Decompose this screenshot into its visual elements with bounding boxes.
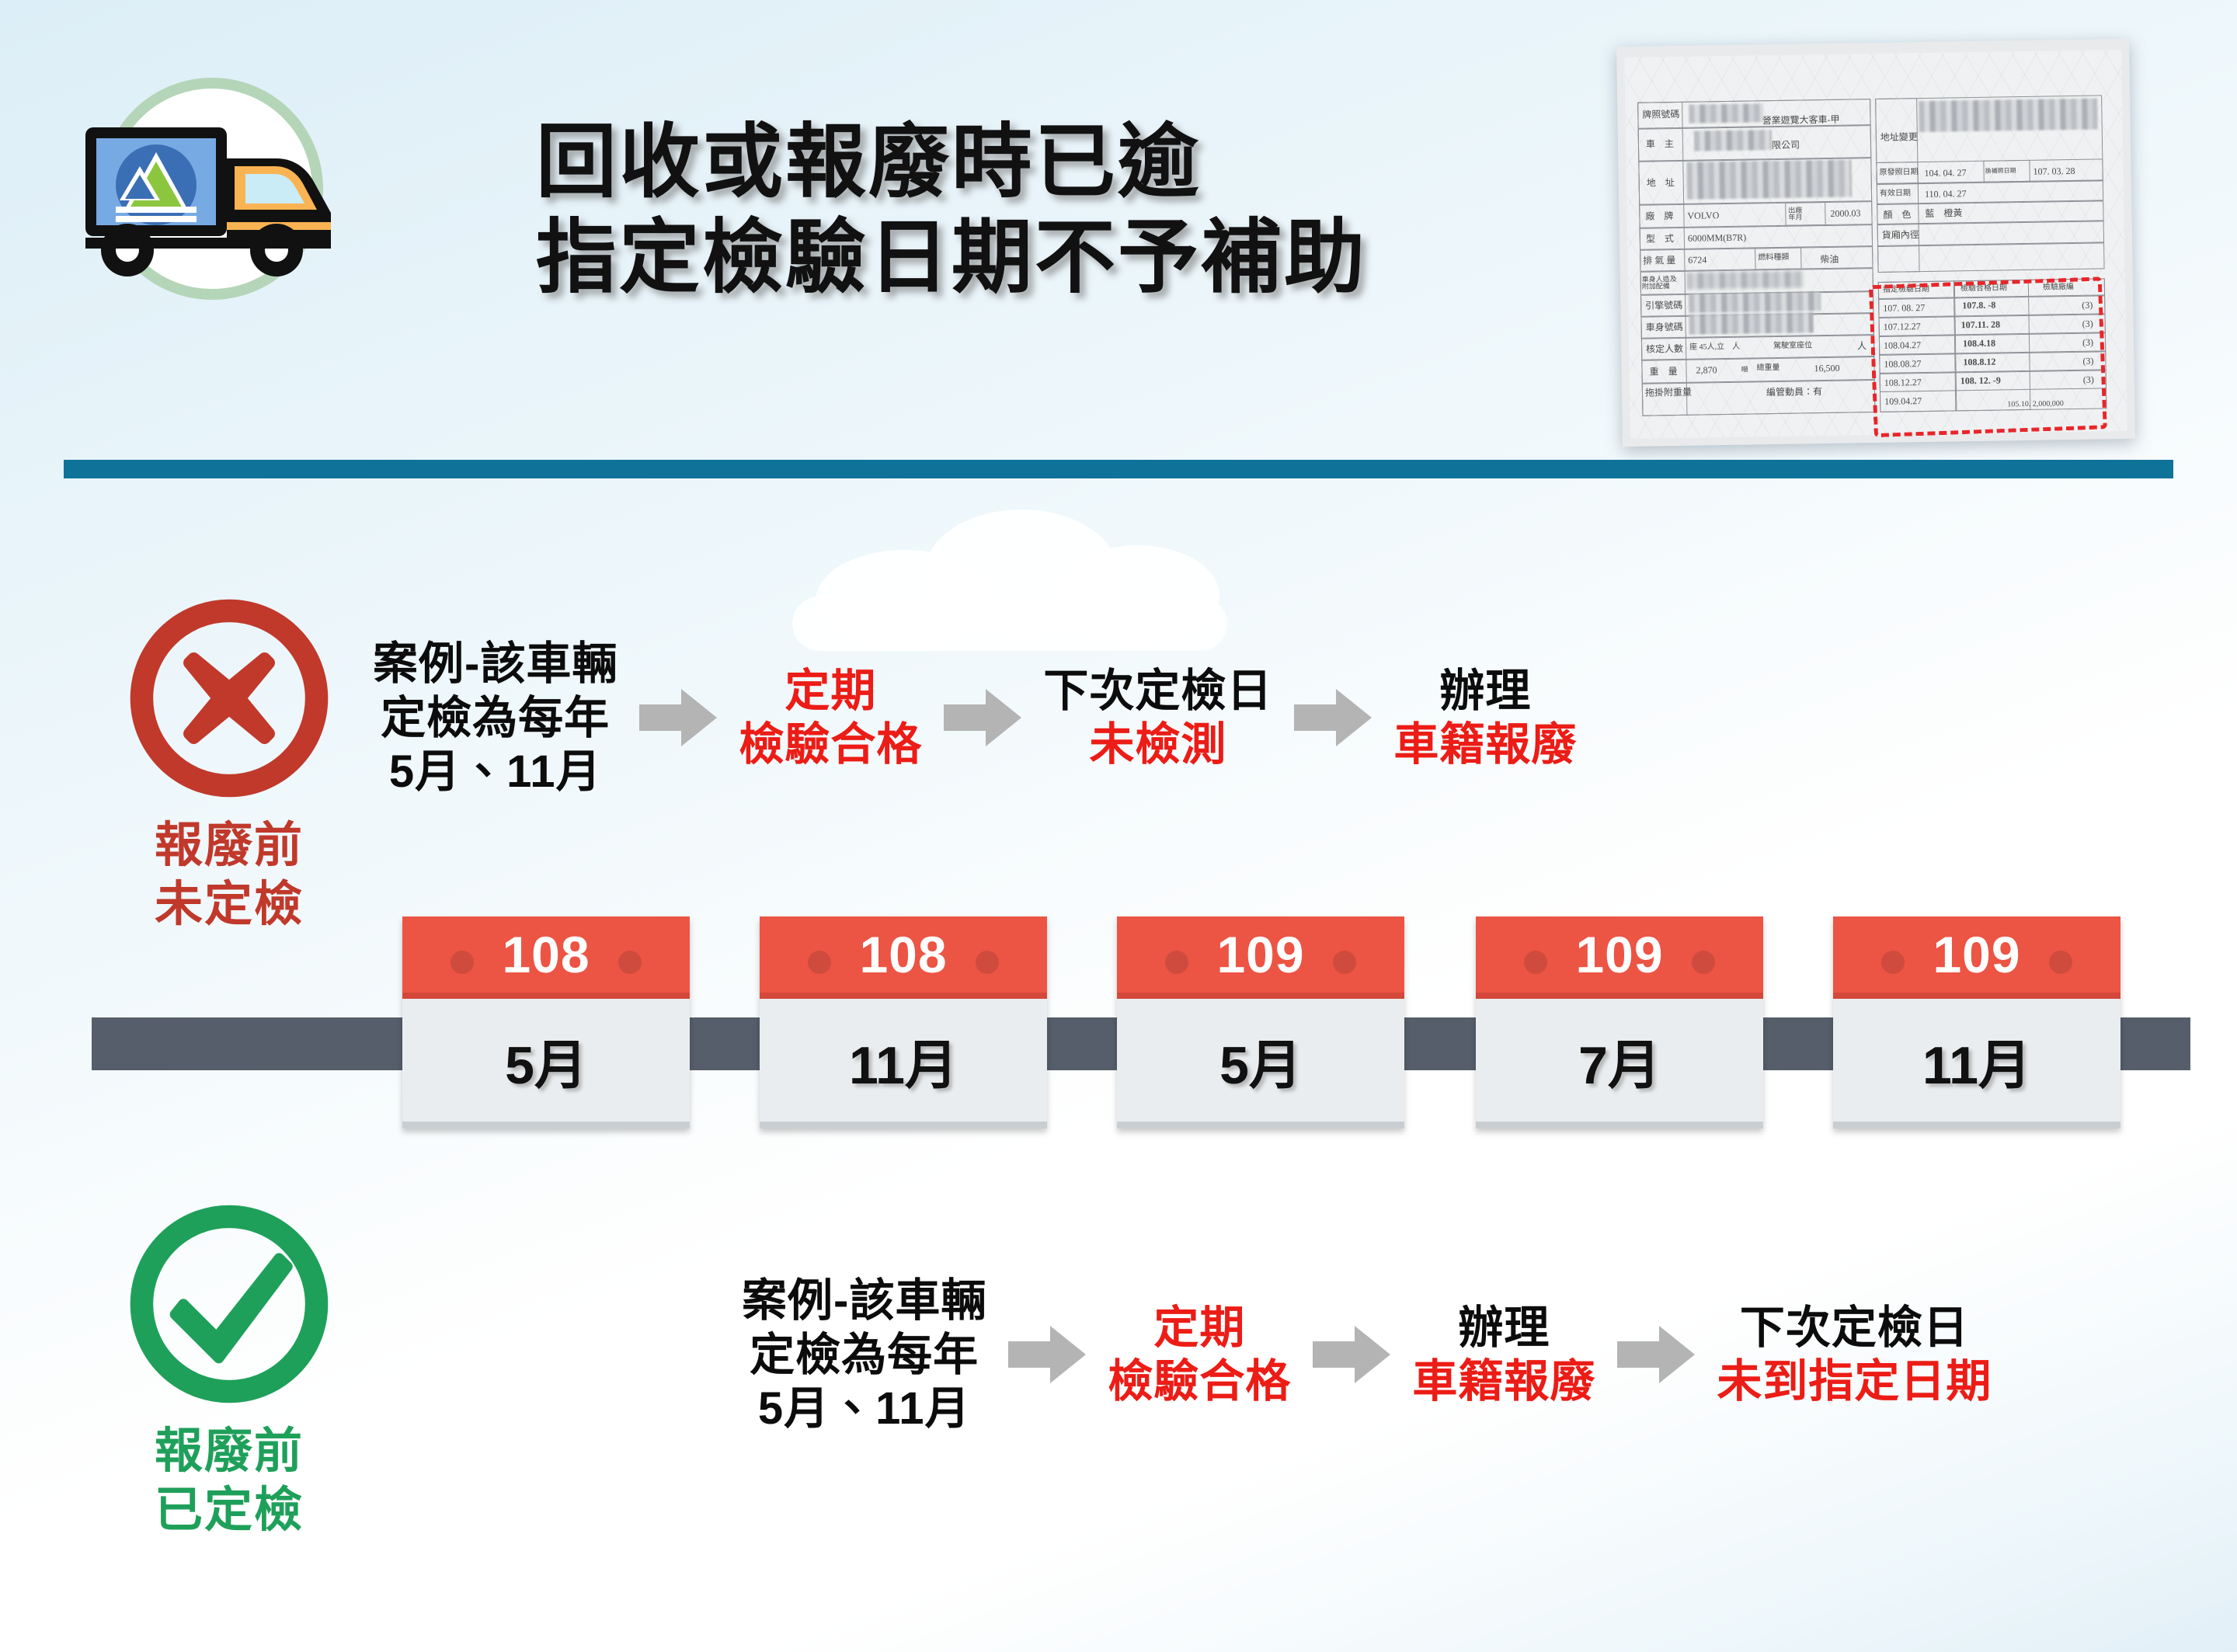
flow-step-case-schedule: 案例-該車輛 定檢為每年 5月、11月 (742, 1274, 986, 1436)
calendar-card: 109 5月 (1117, 916, 1404, 1129)
flow-step-line: 案例-該車輛 (373, 637, 618, 691)
calendar-card: 108 11月 (760, 916, 1047, 1129)
calendar-month: 11月 (1922, 1022, 2031, 1099)
calendar-ring-left-icon (451, 951, 474, 974)
calendar-year-header: 109 (1833, 916, 2120, 999)
flow-step-line: 5月、11月 (389, 745, 602, 799)
title-line-1: 回收或報廢時已逾 (536, 115, 1577, 210)
calendar-month: 5月 (1219, 1022, 1302, 1099)
scenario-label-inspected: 報廢前 已定檢 (74, 1422, 384, 1539)
flow-step-deregistration: 辦理 車籍報廢 (1393, 664, 1577, 772)
calendar-month: 7月 (1578, 1022, 1661, 1099)
header-divider (64, 460, 2173, 478)
flow-step-line: 檢驗合格 (1108, 1355, 1291, 1409)
arrow-right-icon (944, 689, 1021, 746)
flow-step-line: 下次定檢日 (1043, 664, 1272, 718)
status-label-line-1: 報廢前 (74, 816, 384, 875)
calendar-month-body: 5月 (1117, 999, 1404, 1129)
calendar-year: 109 (1216, 925, 1304, 984)
green-check-circle-icon (125, 1200, 333, 1408)
calendar-year: 109 (1575, 925, 1663, 984)
flow-step-line: 辦理 (1458, 1301, 1550, 1355)
calendar-ring-right-icon (1333, 951, 1356, 974)
calendar-card: 109 7月 (1476, 916, 1763, 1129)
calendar-ring-right-icon (618, 951, 642, 974)
vehicle-registration-scan: 牌照號碼 車 主 地 址 廠 牌 型 式 排 氣 量 車身人造及附加配備 引擎號… (1616, 39, 2135, 447)
header: 回收或報廢時已逾 指定檢驗日期不予補助 牌照號碼 車 主 地 址 (0, 0, 2237, 466)
status-label-line-2: 已定檢 (74, 1481, 384, 1540)
flow-step-line: 辦理 (1439, 664, 1531, 718)
flow-step-line: 5月、11月 (758, 1382, 971, 1436)
calendar-month-body: 5月 (402, 999, 690, 1129)
calendar-month-body: 11月 (760, 999, 1047, 1129)
flow-step-line: 車籍報廢 (1393, 718, 1577, 772)
arrow-right-icon (1294, 689, 1372, 746)
inspection-highlight-box (1869, 276, 2107, 437)
flow-step-line: 車籍報廢 (1412, 1355, 1595, 1409)
scenario-badge-no-inspection: 報廢前 未定檢 (74, 594, 384, 934)
flow-step-line: 未到指定日期 (1717, 1355, 1992, 1409)
flow-step-inspection-passed: 定期 檢驗合格 (739, 664, 922, 772)
flow-inspected: 案例-該車輛 定檢為每年 5月、11月 定期 檢驗合格 辦理 車籍報廢 下次定檢… (742, 1274, 1992, 1436)
calendar-ring-left-icon (808, 951, 831, 974)
calendar-year: 109 (1933, 925, 2020, 984)
status-label-line-1: 報廢前 (74, 1422, 384, 1481)
cloud-decoration (746, 505, 1336, 645)
title-line-2: 指定檢驗日期不予補助 (536, 210, 1577, 306)
flow-step-line: 檢驗合格 (739, 718, 922, 772)
calendar-ring-right-icon (976, 951, 999, 974)
scan-table-area: 牌照號碼 車 主 地 址 廠 牌 型 式 排 氣 量 車身人造及附加配備 引擎號… (1637, 73, 2107, 416)
flow-no-inspection: 案例-該車輛 定檢為每年 5月、11月 定期 檢驗合格 下次定檢日 未檢測 辦理… (373, 637, 1577, 799)
calendar-card: 109 11月 (1833, 916, 2120, 1129)
calendar-year-header: 109 (1476, 916, 1763, 999)
calendar-year-header: 108 (402, 916, 690, 999)
inspection-timeline: 108 5月 108 11月 109 5月 109 (0, 916, 2237, 1165)
flow-step-line: 下次定檢日 (1740, 1301, 1969, 1355)
flow-step-line: 定期 (785, 664, 876, 718)
flow-step-deregistration: 辦理 車籍報廢 (1412, 1301, 1595, 1409)
recycling-truck-logo (101, 78, 342, 318)
arrow-right-icon (639, 689, 717, 746)
red-x-circle-icon (125, 594, 333, 802)
page-title: 回收或報廢時已逾 指定檢驗日期不予補助 (536, 115, 1577, 305)
flow-step-next-inspection-not-due: 下次定檢日 未到指定日期 (1717, 1301, 1992, 1409)
flow-step-inspection-passed: 定期 檢驗合格 (1108, 1301, 1291, 1409)
arrow-right-icon (1008, 1326, 1086, 1383)
calendar-ring-left-icon (1524, 951, 1547, 974)
calendar-month-body: 7月 (1476, 999, 1763, 1129)
calendar-year: 108 (502, 925, 590, 984)
calendar-year-header: 109 (1117, 916, 1404, 999)
flow-step-line: 案例-該車輛 (742, 1274, 986, 1328)
calendar-card: 108 5月 (402, 916, 690, 1129)
calendar-ring-left-icon (1881, 951, 1905, 974)
recycling-truck-icon (79, 113, 359, 292)
calendar-year: 108 (859, 925, 947, 984)
flow-step-case-schedule: 案例-該車輛 定檢為每年 5月、11月 (373, 637, 618, 799)
calendar-ring-right-icon (2049, 951, 2072, 974)
calendar-month-body: 11月 (1833, 999, 2120, 1129)
arrow-right-icon (1617, 1326, 1695, 1383)
flow-step-line: 定檢為每年 (381, 691, 610, 746)
flow-step-next-inspection-missed: 下次定檢日 未檢測 (1043, 664, 1272, 772)
calendar-year-header: 108 (760, 916, 1047, 999)
arrow-right-icon (1313, 1326, 1390, 1383)
scenario-badge-inspected: 報廢前 已定檢 (74, 1200, 384, 1539)
calendar-month: 11月 (849, 1022, 958, 1099)
calendar-ring-left-icon (1165, 951, 1188, 974)
flow-step-line: 定期 (1153, 1301, 1245, 1355)
flow-step-line: 未檢測 (1089, 718, 1226, 772)
calendar-ring-right-icon (1692, 951, 1715, 974)
flow-step-line: 定檢為每年 (750, 1328, 979, 1382)
calendar-month: 5月 (505, 1022, 587, 1099)
